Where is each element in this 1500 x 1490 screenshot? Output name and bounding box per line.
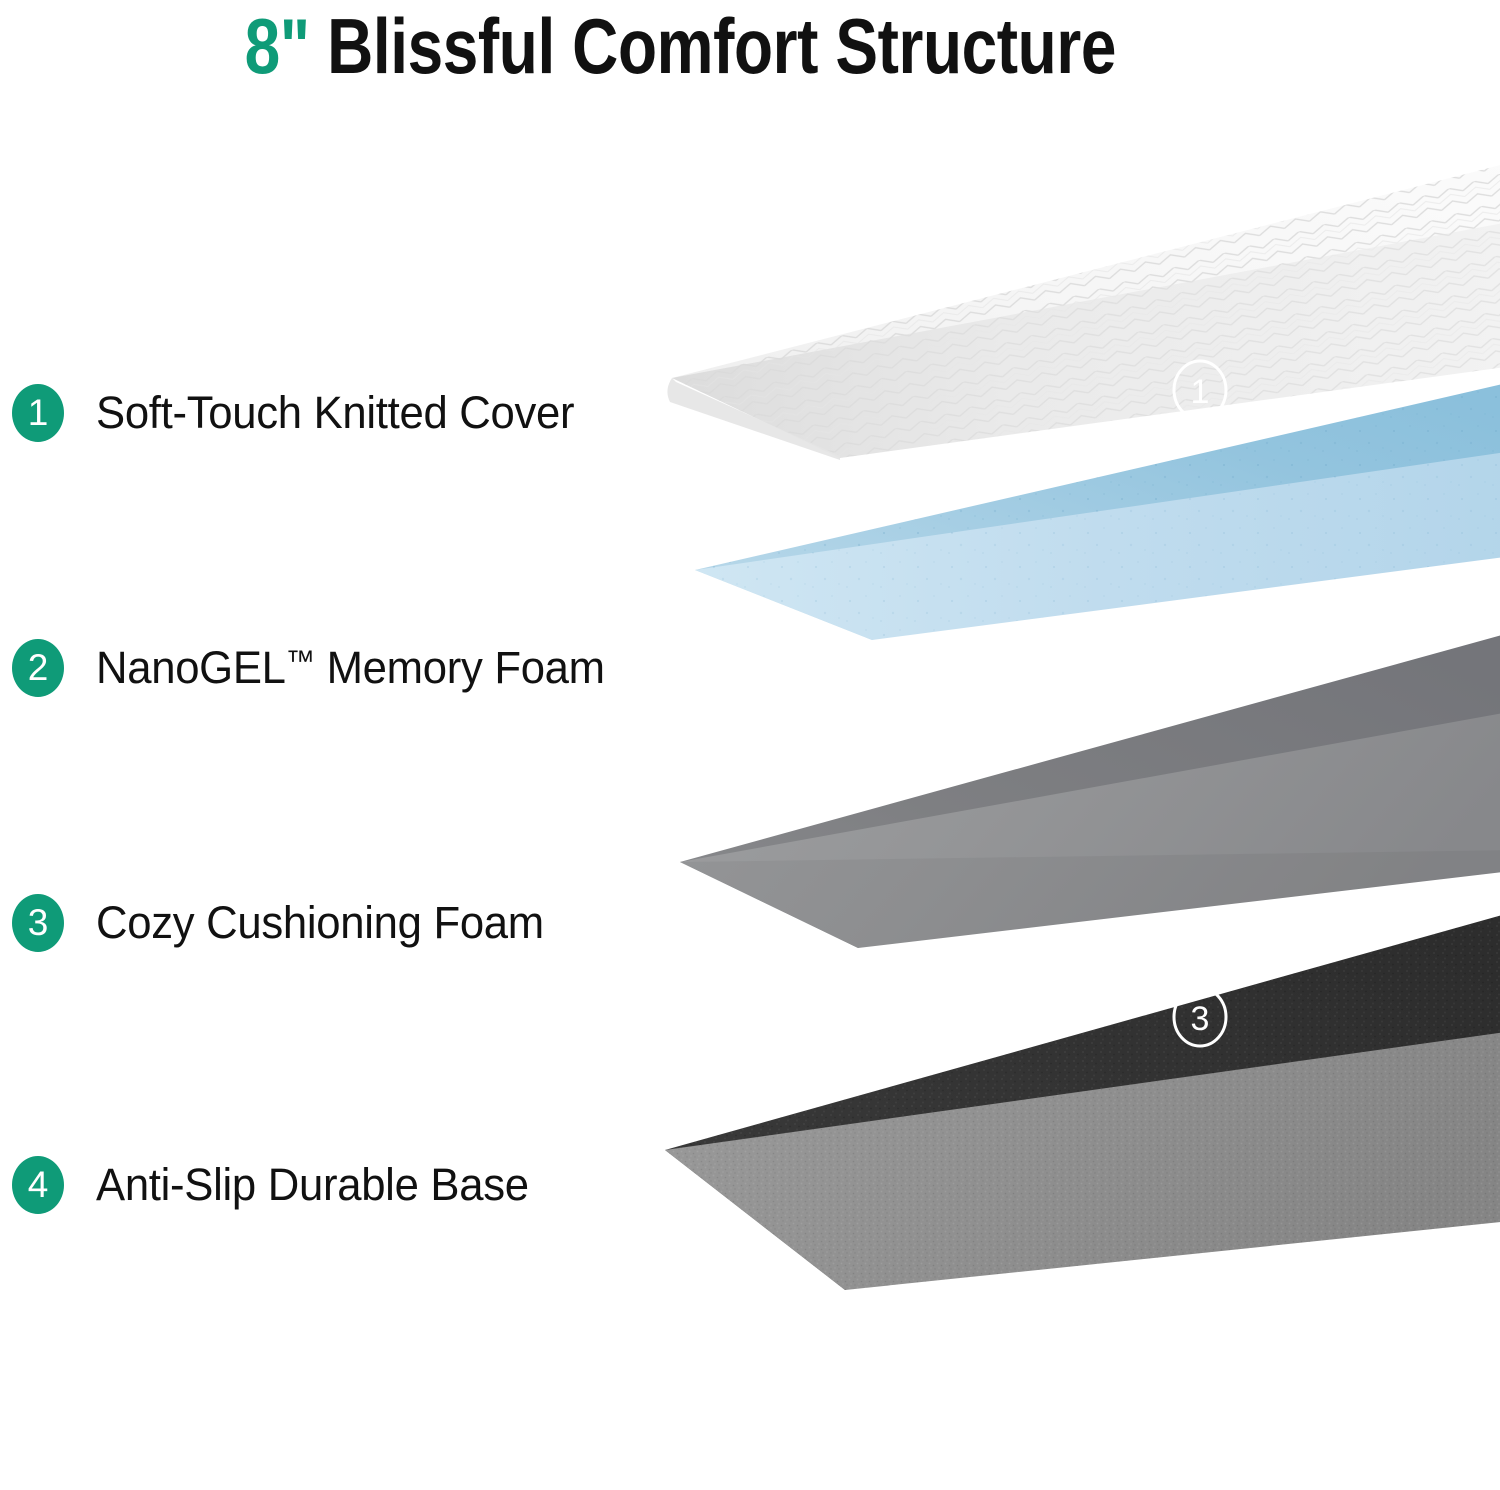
mattress-layer-illustration: 4 3 2 [640,150,1500,1470]
legend-item-4: 4 Anti-Slip Durable Base [12,1150,542,1220]
page-title-spacer [309,2,326,90]
legend-item-3: 3 Cozy Cushioning Foam [12,888,558,958]
layer2-marker: 2 [1174,611,1226,669]
layer1-marker-number: 1 [1191,373,1210,411]
layer-legend-list: 1 Soft-Touch Knitted Cover 2 NanoGEL™ Me… [0,120,680,1450]
layer3-side-shade [680,850,1500,948]
layer3-marker-number: 3 [1191,1000,1210,1038]
legend-badge-1: 1 [12,384,64,442]
legend-label-2: NanoGEL™ Memory Foam [96,642,605,694]
legend-item-2: 2 NanoGEL™ Memory Foam [12,633,620,703]
page-title-main: Blissful Comfort Structure [327,2,1116,90]
page-title-text: 8" Blissful Comfort Structure [244,7,1115,85]
legend-badge-3: 3 [12,894,64,952]
layer-anti-slip-durable-base: 4 [664,910,1500,1374]
legend-item-1: 1 Soft-Touch Knitted Cover [12,378,589,448]
layer4-marker: 4 [1174,1316,1226,1374]
legend-badge-4: 4 [12,1156,64,1214]
layer4-marker-number: 4 [1191,1328,1210,1366]
page-title-size: 8" [244,2,309,90]
legend-label-1: Soft-Touch Knitted Cover [96,387,574,439]
legend-label-3: Cozy Cushioning Foam [96,897,544,949]
legend-label-4: Anti-Slip Durable Base [96,1159,529,1211]
page-title: 8" Blissful Comfort Structure [0,0,1360,92]
layer2-marker-number: 2 [1191,623,1210,661]
legend-badge-2: 2 [12,639,64,697]
